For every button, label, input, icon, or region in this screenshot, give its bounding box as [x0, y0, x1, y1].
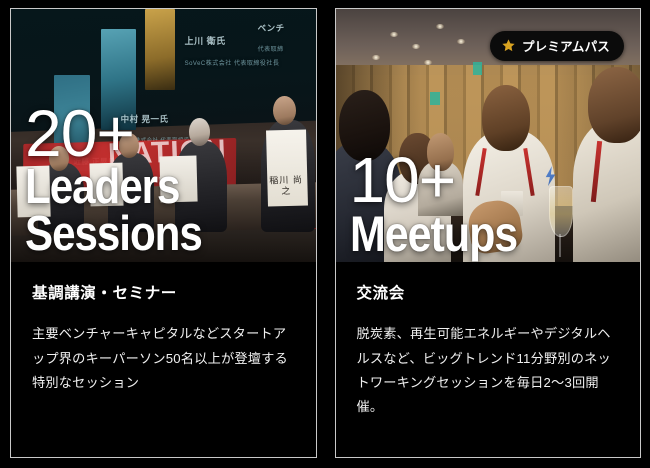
star-icon — [501, 38, 516, 53]
wayfinding-sign — [473, 62, 482, 75]
attendee-4-head — [482, 85, 531, 151]
attendee-5-head — [588, 67, 640, 143]
speaker-headshot-3 — [145, 9, 175, 90]
name-placard-4-text: 稲川 尚之 — [268, 175, 305, 197]
wine-glass-stem — [559, 234, 561, 257]
card-description-left: 主要ベンチャーキャピタルなどスタートアップ界のキーパーソン50名以上が登壇する特… — [32, 322, 295, 395]
card-media-right: プレミアムパス 10+ Meetups — [336, 9, 641, 262]
card-description-right: 脱炭素、再生可能エネルギーやデジタルヘルスなど、ビッグトレンド11分野別のネット… — [357, 322, 620, 420]
card-body-right: 交流会 脱炭素、再生可能エネルギーやデジタルヘルスなど、ビッグトレンド11分野別… — [336, 262, 641, 457]
wayfinding-sign — [430, 92, 440, 105]
overlay-headline-right: 10+ Meetups — [350, 151, 544, 258]
premium-pass-label: プレミアムパス — [522, 36, 610, 55]
card-title-right: 交流会 — [357, 284, 620, 304]
overlay-count-right: 10+ — [350, 151, 544, 210]
card-body-left: 基調講演・セミナー 主要ベンチャーキャピタルなどスタートアップ界のキーパーソン5… — [11, 262, 316, 457]
slide-speaker-org-3: SoVeC株式会社 代表取締役社長 — [185, 58, 280, 67]
panelist-4-head — [273, 96, 296, 125]
card-keynote-seminar[interactable]: 近藤 正晃氏 Symmetry Dimensions Inc. CoFounde… — [10, 8, 317, 458]
premium-pass-badge: プレミアムパス — [490, 31, 624, 61]
overlay-count-left: 20+ — [25, 103, 231, 164]
card-media-left: 近藤 正晃氏 Symmetry Dimensions Inc. CoFounde… — [11, 9, 316, 262]
wine-glass-icon — [549, 186, 573, 237]
card-title-left: 基調講演・セミナー — [32, 284, 295, 304]
ceiling-light-icon — [372, 55, 380, 60]
slide-speaker-org-4: 代表取締 — [258, 44, 284, 53]
overlay-line1-right: Meetups — [350, 210, 517, 258]
overlay-line1-left: Leaders — [25, 164, 202, 211]
overlay-line2-left: Sessions — [25, 211, 202, 258]
slide-speaker-name-4: ベンチ — [258, 22, 285, 34]
ceiling-light-icon — [390, 32, 398, 37]
cards-container: 近藤 正晃氏 Symmetry Dimensions Inc. CoFounde… — [0, 0, 650, 468]
card-networking[interactable]: プレミアムパス 10+ Meetups 交流会 脱炭素、再生可能エネルギーやデジ… — [335, 8, 642, 458]
slide-speaker-name-3: 上川 衛氏 — [185, 34, 226, 47]
overlay-headline-left: 20+ Leaders Sessions — [25, 103, 231, 258]
